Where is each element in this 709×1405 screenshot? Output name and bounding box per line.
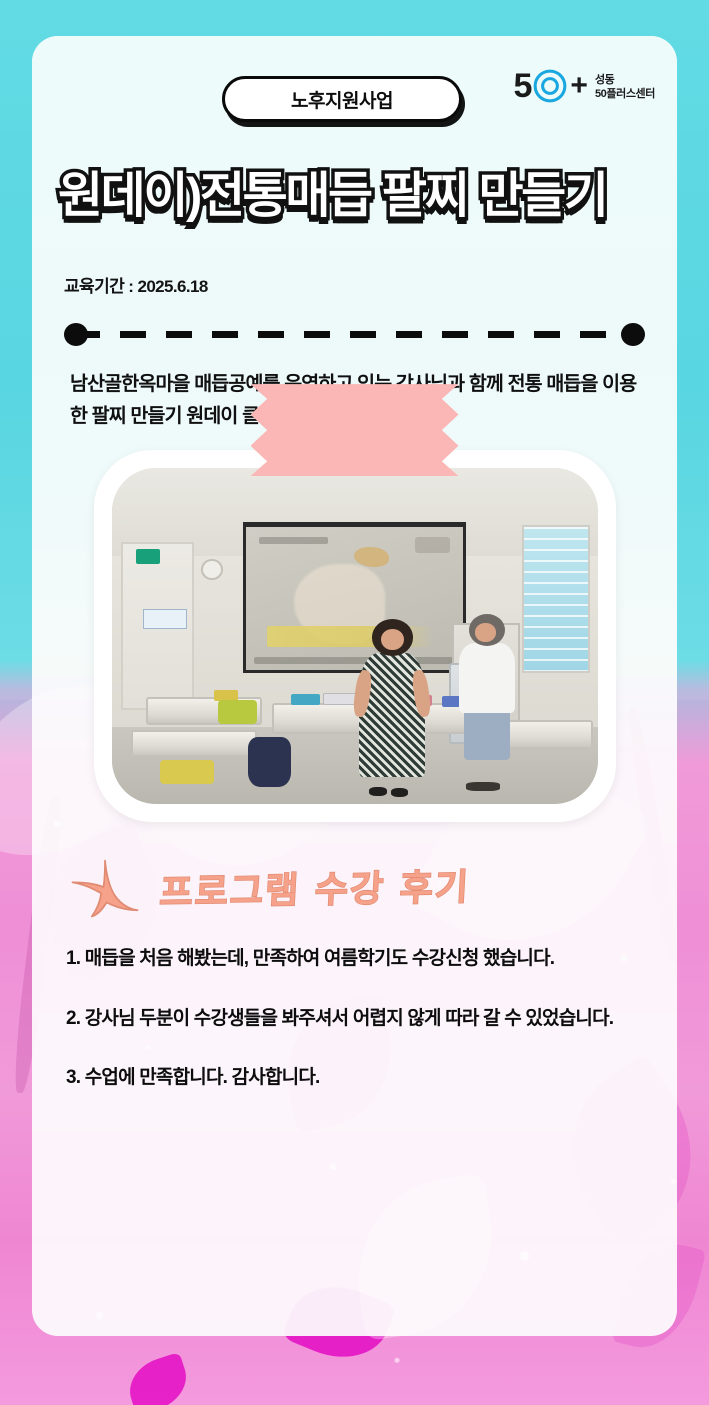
education-period: 교육기간 : 2025.6.18 (32, 272, 677, 297)
assistant-figure (459, 643, 515, 714)
pink-tape-ribbon (251, 384, 459, 476)
logo-org-line2: 50플러스센터 (595, 88, 655, 101)
dashed-divider (64, 323, 645, 345)
poster-card: 노후지원사업 5 (0, 0, 709, 1405)
page-title: 원데이)전통매듭 팔찌 만들기 (58, 171, 607, 222)
photo-frame (94, 450, 616, 822)
card-header: 노후지원사업 5 (32, 36, 677, 128)
logo-numeral: 5 (514, 69, 532, 103)
logo-plus: + (570, 71, 588, 101)
divider-dot-right (621, 323, 645, 346)
content-card: 노후지원사업 5 (32, 36, 677, 1336)
review-item: 1. 매듭을 처음 해봤는데, 만족하여 여름학기도 수강신청 했습니다. (66, 944, 647, 973)
logo-mark: 5 + (514, 68, 588, 104)
classroom-photo (112, 468, 598, 804)
exit-sign-icon (136, 549, 160, 564)
wall-clock-icon (201, 559, 222, 580)
photo-block (94, 450, 616, 822)
projector-screen (243, 522, 467, 673)
reviews-heading-row: 프로그램 수강 후기 (66, 856, 677, 918)
reviews-title: 프로그램 수강 후기 (158, 858, 471, 915)
review-item: 2. 강사님 두분이 수강생들을 봐주셔서 어렵지 않게 따라 갈 수 있었습니… (66, 1004, 647, 1033)
title-wrapper: 원데이)전통매듭 팔찌 만들기 (32, 150, 677, 242)
logo-circle-icon (532, 68, 568, 104)
divider-dashes (74, 331, 635, 338)
category-badge-label: 노후지원사업 (291, 86, 393, 113)
logo-text: 성동 50플러스센터 (595, 71, 655, 101)
category-badge: 노후지원사업 (222, 76, 462, 122)
brand-logo: 5 + (514, 68, 656, 104)
review-list: 1. 매듭을 처음 해봤는데, 만족하여 여름학기도 수강신청 했습니다. 2.… (66, 944, 647, 1092)
logo-org-line1: 성동 (595, 74, 655, 87)
star-icon (66, 856, 144, 918)
review-item: 3. 수업에 만족합니다. 감사합니다. (66, 1063, 647, 1092)
